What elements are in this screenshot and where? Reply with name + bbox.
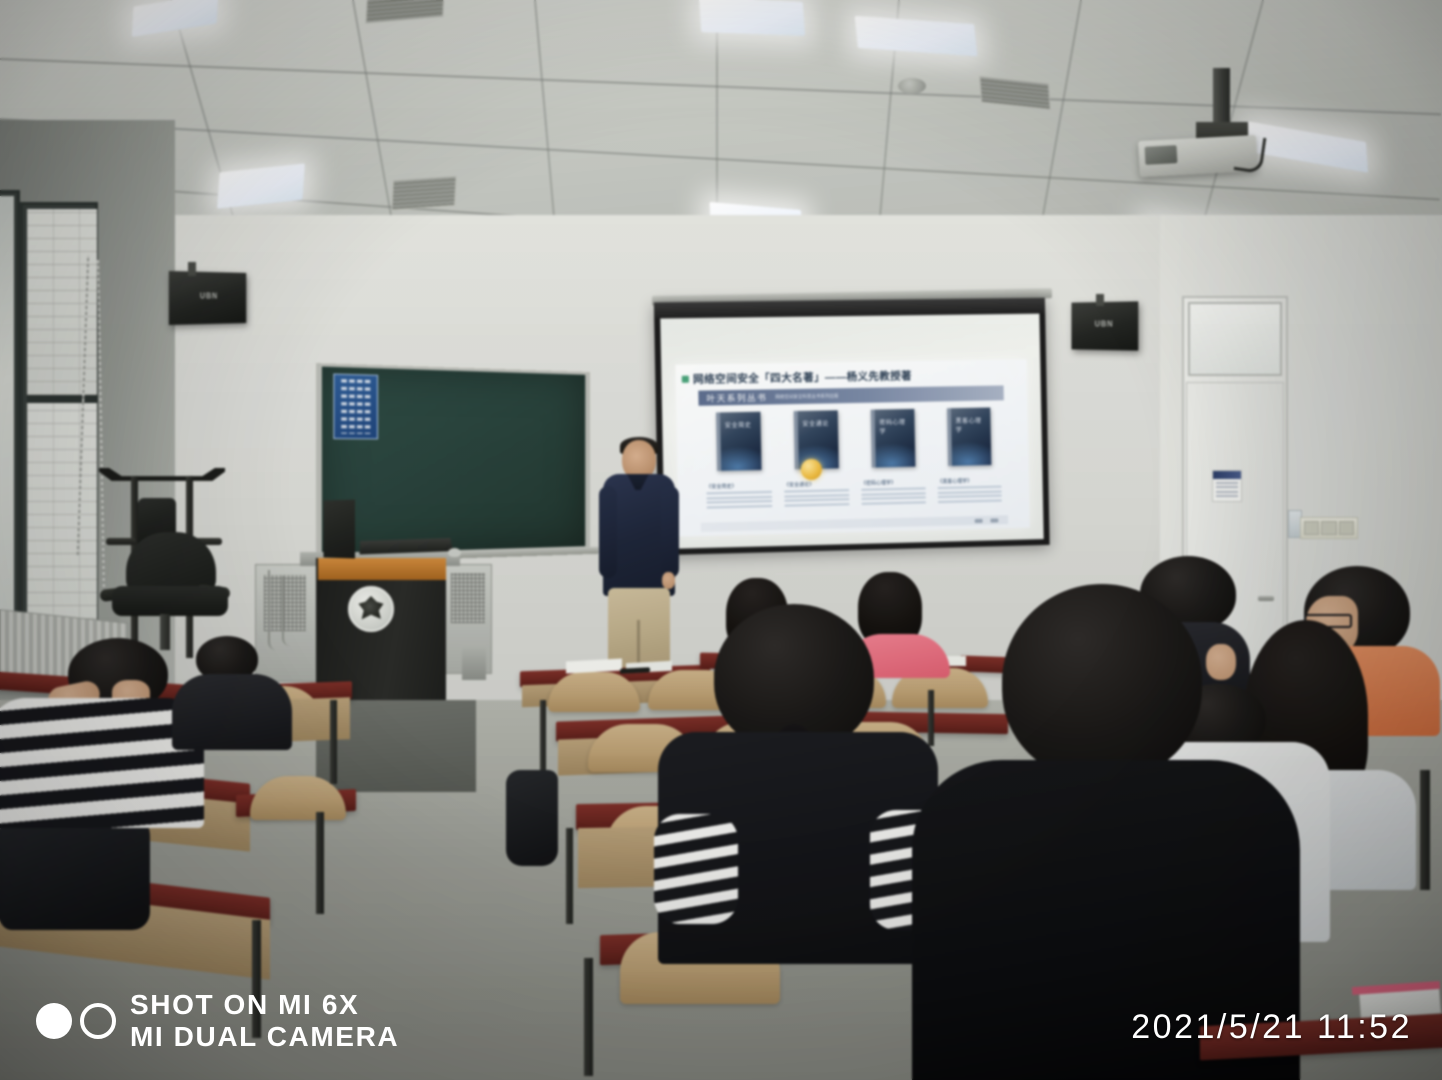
book-description-head: 《密码心理学》 <box>861 478 926 486</box>
ceiling-light-panel <box>1248 121 1368 173</box>
power-outlet[interactable] <box>1339 521 1354 535</box>
university-emblem <box>348 586 394 632</box>
podium-wood-trim <box>318 558 446 580</box>
book-cover: 黑客心理学 <box>946 408 990 466</box>
book-description-head: 《黑客心理学》 <box>937 477 1001 485</box>
book-cell: 密码心理学 <box>854 409 932 478</box>
student-black-shirt-foreground <box>912 584 1312 1080</box>
presentation-slide: 网络空间安全「四大名著」——杨义先教授著 叶天系列丛书 网络空间安全科普丛书系列… <box>675 359 1029 536</box>
book-title: 安全简史 <box>725 420 757 430</box>
camera-lens-filled-icon <box>36 1003 72 1039</box>
student-torso <box>172 674 292 750</box>
desk-leg <box>566 828 573 924</box>
wall-speaker-left: UBN <box>169 271 246 325</box>
book-description-head: 《安全通论》 <box>784 480 849 488</box>
speaker-bracket-right <box>1096 294 1104 306</box>
wall-speaker-right: UBN <box>1071 301 1138 350</box>
book-cover: 安全简史 <box>715 412 761 471</box>
wall-power-outlets[interactable] <box>1300 517 1358 539</box>
ceiling-light-panel <box>854 16 977 57</box>
student-head <box>1002 584 1202 780</box>
camera-watermark-text: SHOT ON MI 6X MI DUAL CAMERA <box>130 989 399 1052</box>
book-cell: 安全简史 <box>699 411 778 481</box>
ceiling-vent <box>979 76 1050 110</box>
desk-leg <box>1420 770 1430 890</box>
camera-lens-icons <box>36 1003 116 1039</box>
projector-mount-pole <box>1213 68 1230 130</box>
podium-monitor[interactable] <box>323 500 355 559</box>
book-description-head: 《安全简史》 <box>706 482 772 491</box>
slide-title: 网络空间安全「四大名著」——杨义先教授著 <box>693 368 912 387</box>
power-outlet[interactable] <box>1304 521 1319 535</box>
book-title: 黑客心理学 <box>955 416 986 434</box>
green-chalkboard <box>316 363 590 561</box>
book-cover-glow <box>870 443 915 468</box>
book-title: 安全通论 <box>802 418 833 428</box>
ceiling-light-panel <box>132 0 219 37</box>
student-sleeve-stripes-left <box>654 814 738 924</box>
slide-footer-mark <box>990 518 998 522</box>
camera-watermark-line2: MI DUAL CAMERA <box>130 1021 399 1052</box>
door-transom-window <box>1188 302 1282 376</box>
university-emblem-crest-icon <box>358 596 384 622</box>
wall-speaker-left-label: UBN <box>200 291 218 300</box>
desk-leg <box>330 700 337 784</box>
ceiling-vent <box>366 0 445 24</box>
ceiling-light-panel <box>217 163 305 208</box>
podium-floor-box <box>462 644 486 680</box>
ceiling-vent <box>391 176 456 211</box>
camera-watermark: SHOT ON MI 6X MI DUAL CAMERA <box>36 989 399 1052</box>
ceiling-light-panel <box>699 0 805 36</box>
slide-band-title: 叶天系列丛书 <box>706 391 767 404</box>
camera-lens-outline-icon <box>80 1003 116 1039</box>
projection-screen: 网络空间安全「四大名著」——杨义先教授著 叶天系列丛书 网络空间安全科普丛书系列… <box>654 298 1050 555</box>
book-cover-glow <box>946 441 990 466</box>
slide-bullet-icon <box>682 375 689 382</box>
door-notice-sign <box>1212 470 1242 502</box>
book-cover: 密码心理学 <box>870 409 915 468</box>
photo-timestamp: 2021/5/21 11:52 <box>1131 1008 1412 1047</box>
coat-rack-arm[interactable] <box>106 538 136 545</box>
blue-notice-poster <box>333 373 378 439</box>
book-title: 密码心理学 <box>879 417 910 436</box>
screen-surface: 网络空间安全「四大名著」——杨义先教授著 叶天系列丛书 网络空间安全科普丛书系列… <box>660 314 1043 549</box>
projector-lens-icon <box>1145 145 1178 165</box>
slide-band-subtitle: 网络空间安全科普丛书系列出版 <box>775 393 838 400</box>
desk-leg <box>316 812 324 914</box>
office-chair-seat[interactable] <box>112 586 228 616</box>
camera-watermark-line1: SHOT ON MI 6X <box>130 989 399 1020</box>
classroom-photo: 网络空间安全「四大名著」——杨义先教授著 叶天系列丛书 网络空间安全科普丛书系列… <box>0 0 1442 1080</box>
slide-book-row: 安全简史 安全通论 密码心理学 <box>699 407 1008 481</box>
podium-mouse[interactable] <box>448 548 461 557</box>
desk-leg <box>584 958 593 1076</box>
book-cover-glow <box>715 446 761 471</box>
book-cell: 黑客心理学 <box>930 407 1007 476</box>
wall-speaker-right-label: UBN <box>1095 320 1114 329</box>
floor-backpack[interactable] <box>506 770 558 866</box>
slide-title-row: 网络空间安全「四大名著」——杨义先教授著 <box>682 365 1021 387</box>
student-dark-hair-left-row <box>178 636 308 756</box>
slide-footer-mark <box>975 518 983 522</box>
desk-leg <box>540 700 546 770</box>
smoke-detector-icon <box>898 78 926 94</box>
speaker-bracket-left <box>188 262 196 276</box>
power-outlet[interactable] <box>1321 521 1336 535</box>
slide-section-band: 叶天系列丛书 网络空间安全科普丛书系列出版 <box>698 385 1004 405</box>
door-notice-header <box>1213 471 1241 479</box>
